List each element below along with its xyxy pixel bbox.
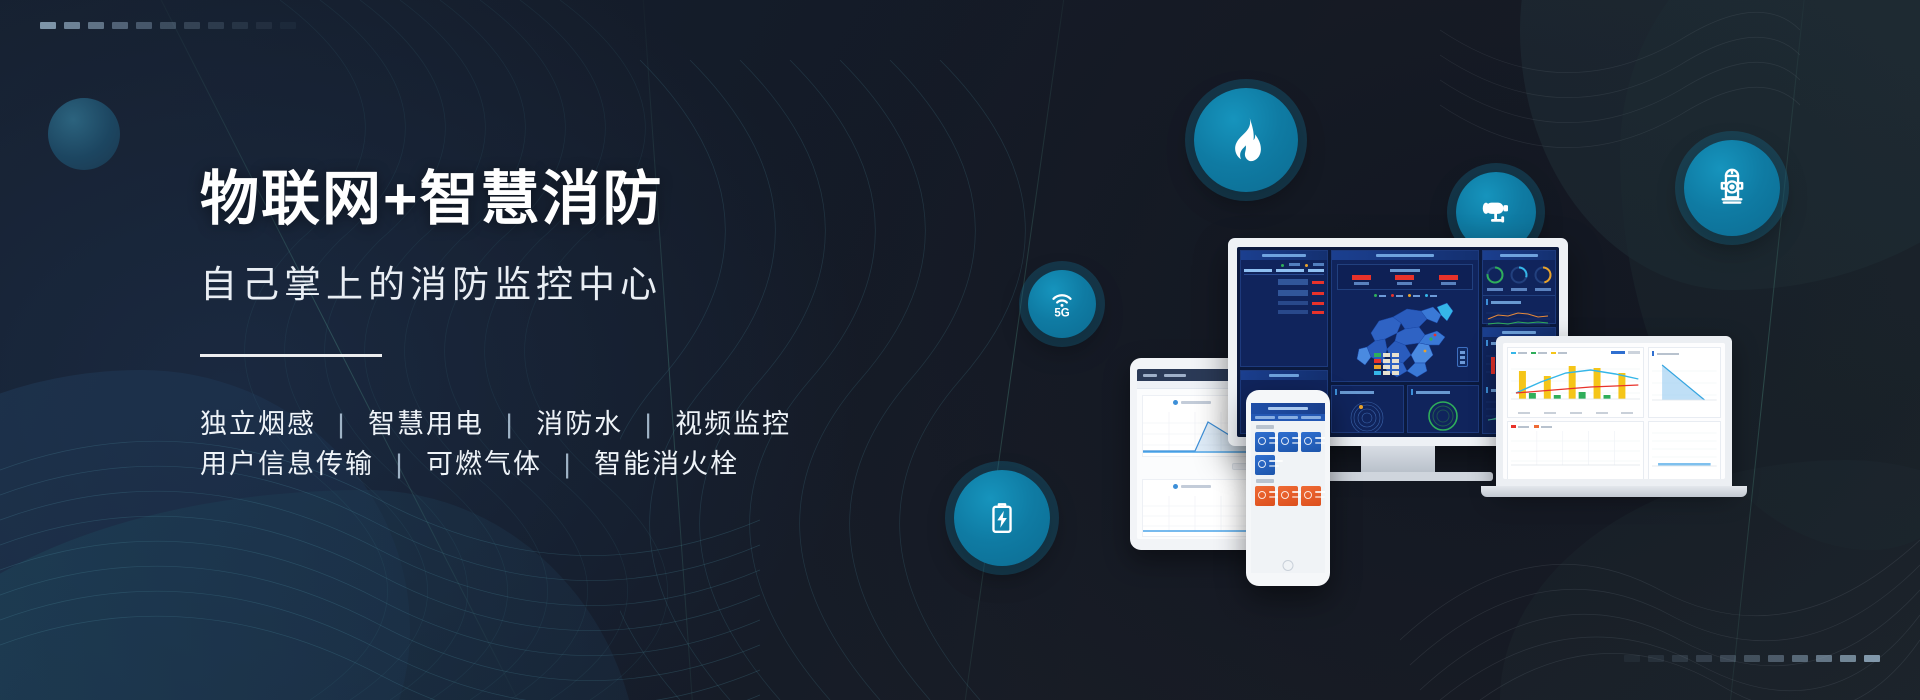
phone-screen xyxy=(1251,403,1325,573)
panel-header xyxy=(1332,251,1478,260)
card-bullet-icon xyxy=(1173,484,1178,489)
table-col-header xyxy=(1308,269,1324,272)
hero-subheadline: 自己掌上的消防监控中心 xyxy=(200,254,791,308)
radar-chart xyxy=(1344,398,1390,432)
phone-tile[interactable] xyxy=(1255,432,1275,452)
laptop-chart-row-1 xyxy=(1507,347,1721,418)
phone-tile[interactable] xyxy=(1278,486,1298,506)
feature-item: 消防水 xyxy=(536,409,623,439)
hero-copy-block: 物联网+智慧消防 自己掌上的消防监控中心 独立烟感 | 智慧用电 | 消防水 |… xyxy=(200,168,791,485)
laptop-screen xyxy=(1503,343,1725,479)
phone-section-label-2 xyxy=(1256,479,1274,483)
card-bullet-icon xyxy=(1173,400,1178,405)
feature-item: 智能消火栓 xyxy=(594,449,739,479)
phone-tile-grid-blue xyxy=(1251,432,1325,475)
decor-dash-row-bottom-right xyxy=(1624,655,1880,662)
phone-header xyxy=(1251,403,1325,414)
hero-banner: 物联网+智慧消防 自己掌上的消防监控中心 独立烟感 | 智慧用电 | 消防水 |… xyxy=(0,0,1920,700)
feature-separator: | xyxy=(338,409,347,439)
feature-line-2: 用户信息传输 | 可燃气体 | 智能消火栓 xyxy=(200,445,791,485)
kpi-item xyxy=(1439,275,1458,285)
hydrant-icon xyxy=(1710,166,1754,210)
laptop-bar-line-chart xyxy=(1511,357,1640,405)
laptop-decline-area-chart xyxy=(1652,359,1717,407)
panel-header xyxy=(1241,371,1327,380)
hero-feature-list: 独立烟感 | 智慧用电 | 消防水 | 视频监控 用户信息传输 | 可燃气体 |… xyxy=(200,405,791,485)
hydrant-icon-badge xyxy=(1684,140,1780,236)
phone-home-button[interactable] xyxy=(1283,560,1294,571)
5g-label: 5G xyxy=(1054,307,1069,319)
feature-separator: | xyxy=(645,409,654,439)
phone-tile-grid-orange xyxy=(1251,486,1325,506)
feature-separator: | xyxy=(396,449,405,479)
dashboard-radar-panel xyxy=(1331,385,1404,433)
dashboard-gauges-panel xyxy=(1482,250,1556,324)
decor-dash-row-top-left xyxy=(40,22,296,29)
map-control-panel[interactable] xyxy=(1457,347,1468,367)
laptop-chart-row-2 xyxy=(1507,421,1721,479)
battery-icon xyxy=(981,497,1023,539)
donut-gauge-1 xyxy=(1485,265,1505,285)
phone-device xyxy=(1246,390,1330,586)
china-map-container xyxy=(1332,297,1478,381)
decor-blob-bottom-left-2 xyxy=(0,490,640,700)
laptop-combo-chart-card xyxy=(1507,347,1644,418)
gauge-row xyxy=(1483,265,1555,285)
phone-section-label-1 xyxy=(1256,425,1274,429)
monitor-base xyxy=(1303,472,1493,481)
feature-line-1: 独立烟感 | 智慧用电 | 消防水 | 视频监控 xyxy=(200,405,791,445)
phone-tile[interactable] xyxy=(1301,486,1321,506)
laptop-flat-bar-chart xyxy=(1652,425,1717,471)
phone-tile[interactable] xyxy=(1278,432,1298,452)
feature-item: 用户信息传输 xyxy=(200,449,374,479)
laptop-flat-chart-card xyxy=(1648,421,1721,479)
feature-item: 可燃气体 xyxy=(426,449,542,479)
feature-item: 独立烟感 xyxy=(200,409,316,439)
phone-tile[interactable] xyxy=(1255,455,1275,475)
table-row xyxy=(1244,301,1324,305)
card-title-bar xyxy=(1181,401,1211,404)
hero-divider-rule xyxy=(200,354,382,357)
flame-icon xyxy=(1221,115,1271,165)
legend-label xyxy=(1289,263,1300,266)
dashboard-bottom-legend xyxy=(1331,436,1479,437)
dashboard-alarm-table-panel xyxy=(1240,250,1328,367)
flame-icon-badge xyxy=(1194,88,1298,192)
panel-header xyxy=(1483,251,1555,260)
decor-hairline-2 xyxy=(941,0,1081,700)
phone-tab-bar[interactable] xyxy=(1251,414,1325,421)
dashboard-kpi-strip xyxy=(1337,264,1473,290)
feature-item: 视频监控 xyxy=(675,409,791,439)
battery-icon-badge xyxy=(954,470,1050,566)
kpi-item xyxy=(1352,275,1371,285)
table-row xyxy=(1244,279,1324,285)
phone-tile[interactable] xyxy=(1255,486,1275,506)
kpi-item xyxy=(1395,275,1414,285)
table-row xyxy=(1244,310,1324,314)
device-cluster xyxy=(1120,278,1760,588)
camera-icon xyxy=(1476,192,1516,232)
feature-item: 智慧用电 xyxy=(368,409,484,439)
5g-icon: 5G xyxy=(1044,286,1080,322)
china-map xyxy=(1349,297,1461,381)
legend-dot-green xyxy=(1281,264,1284,267)
feature-separator: | xyxy=(506,409,515,439)
monitor-stand xyxy=(1361,446,1435,472)
phone-tile[interactable] xyxy=(1301,432,1321,452)
laptop-legend-chart-card xyxy=(1507,421,1644,479)
5g-icon-badge: 5G xyxy=(1028,270,1096,338)
dashboard-gauge-row xyxy=(1331,385,1479,433)
dashboard-center-column xyxy=(1331,250,1479,434)
map-overlay-legend-grid xyxy=(1374,353,1399,375)
laptop-lid xyxy=(1496,336,1732,486)
laptop-decline-chart-card xyxy=(1648,347,1721,418)
dashboard-map-panel xyxy=(1331,250,1479,382)
ring-gauge-chart xyxy=(1423,398,1463,432)
donut-gauge-2 xyxy=(1509,265,1529,285)
table-col-header xyxy=(1244,269,1272,272)
donut-gauge-3 xyxy=(1533,265,1553,285)
legend-label xyxy=(1313,263,1324,266)
legend-dot-amber xyxy=(1305,264,1308,267)
hero-headline: 物联网+智慧消防 xyxy=(200,168,791,232)
dashboard-ring-panel xyxy=(1407,385,1480,433)
laptop-device xyxy=(1496,336,1762,528)
line-chart-small xyxy=(1486,307,1550,329)
feature-separator: | xyxy=(564,449,573,479)
panel-header xyxy=(1241,251,1327,260)
card-title-bar xyxy=(1181,485,1211,488)
decor-circle-left xyxy=(48,98,120,170)
table-col-header xyxy=(1276,269,1304,272)
laptop-empty-grid-chart xyxy=(1511,431,1640,471)
laptop-base xyxy=(1481,486,1747,497)
table-row xyxy=(1244,290,1324,296)
